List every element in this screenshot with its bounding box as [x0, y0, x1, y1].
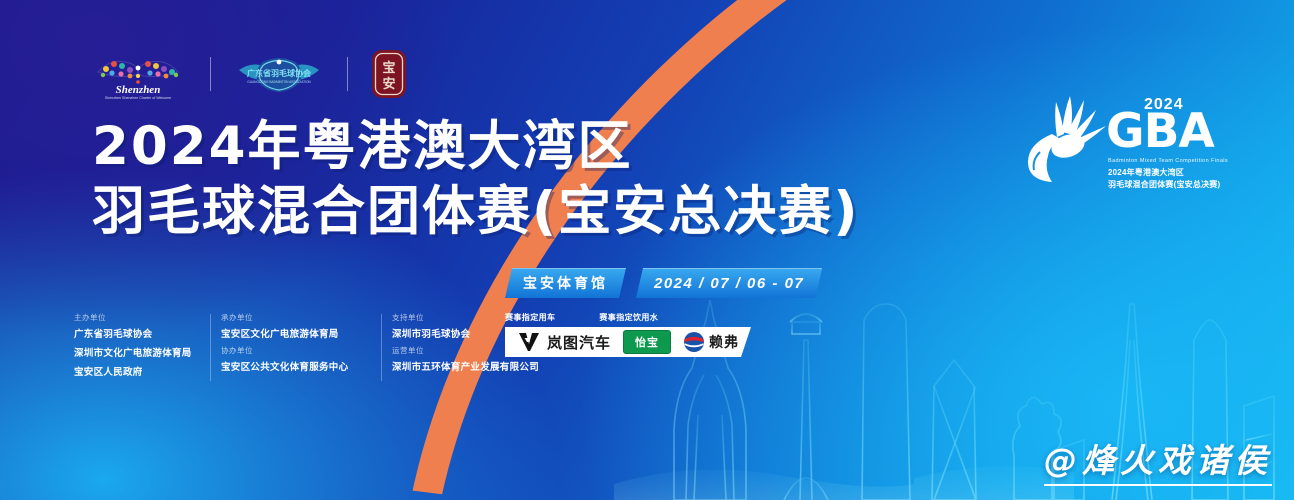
baoan-seal-logo: 宝 安 [370, 48, 408, 100]
org-role-label: 主办单位 [74, 312, 210, 323]
svg-text:安: 安 [382, 76, 395, 92]
org-name: 宝安区公共文化体育服务中心 [221, 359, 381, 373]
voyah-logo: 岚图汽车 [517, 331, 611, 353]
logo-divider-1 [210, 57, 211, 91]
laifu-mark-icon [683, 331, 705, 353]
sponsor-logo-bar: 岚图汽车 怡宝 赖弗 [505, 327, 751, 357]
date-pill: 2024 / 07 / 06 - 07 [636, 268, 822, 298]
shenzhen-logo-wordmark: Shenzhen [116, 84, 161, 96]
voyah-mark-icon [517, 331, 541, 353]
cestbon-logo: 怡宝 [623, 330, 671, 354]
sponsor-head-vehicle: 赛事指定用车 [505, 312, 555, 323]
title-line-1: 2024年粤港澳大湾区 [92, 120, 859, 173]
organizer-divider-2 [381, 314, 382, 381]
svg-text:GUANGDONG BADMINTON ASSOCIATIO: GUANGDONG BADMINTON ASSOCIATION [247, 80, 311, 84]
gba-event-badge: 2024 GBA Badminton Mixed Team Competitio… [1026, 92, 1241, 197]
organizer-column-1: 主办单位 广东省羽毛球协会 深圳市文化广电旅游体育局 宝安区人民政府 [74, 312, 210, 383]
shuttlecock-icon [1018, 90, 1114, 190]
org-name: 深圳市文化广电旅游体育局 [74, 345, 210, 359]
watermark: @烽火戏诸侯 [1044, 434, 1272, 486]
shenzhen-city-logo: Shenzhen Shenzhen Shenzhen Charter of We… [88, 44, 188, 104]
gdba-logo-cn: 广东省羽毛球协会 [247, 68, 311, 78]
svg-text:Shenzhen Shenzhen Charter of: Shenzhen Shenzhen Charter of Welcome [105, 96, 171, 100]
banner-title-block: 2024年粤港澳大湾区 羽毛球混合团体赛(宝安总决赛) [92, 120, 859, 238]
organizer-divider-1 [210, 314, 211, 381]
org-name: 宝安区文化广电旅游体育局 [221, 326, 381, 340]
guangdong-badminton-association-logo: 广东省羽毛球协会 GUANGDONG BADMINTON ASSOCIATION [233, 50, 325, 98]
logo-divider-2 [347, 57, 348, 91]
organizer-credits: 主办单位 广东省羽毛球协会 深圳市文化广电旅游体育局 宝安区人民政府 承办单位 … [74, 312, 552, 383]
laifu-wordmark: 赖弗 [709, 332, 739, 352]
svg-text:宝: 宝 [382, 60, 395, 76]
gba-cn-line-2: 羽毛球混合团体赛(宝安总决赛) [1108, 179, 1220, 190]
title-line-2: 羽毛球混合团体赛(宝安总决赛) [92, 185, 859, 238]
sponsor-head-water: 赛事指定饮用水 [599, 312, 658, 323]
organizer-column-2: 承办单位 宝安区文化广电旅游体育局 协办单位 宝安区公共文化体育服务中心 [221, 312, 381, 383]
gba-tagline: Badminton Mixed Team Competition Finals [1108, 158, 1228, 164]
voyah-wordmark: 岚图汽车 [547, 332, 611, 353]
gba-cn-line-1: 2024年粤港澳大湾区 [1108, 167, 1184, 178]
partner-logo-strip: Shenzhen Shenzhen Shenzhen Charter of We… [88, 44, 408, 104]
org-name: 广东省羽毛球协会 [74, 326, 210, 340]
venue-date-pills: 宝安体育馆 2024 / 07 / 06 - 07 [505, 268, 822, 298]
org-role-label: 协办单位 [221, 345, 381, 356]
gba-acronym: GBA [1106, 108, 1214, 155]
org-role-label: 承办单位 [221, 312, 381, 323]
laifu-logo: 赖弗 [683, 331, 739, 353]
venue-pill: 宝安体育馆 [505, 268, 626, 298]
sponsor-block: 赛事指定用车 赛事指定饮用水 岚图汽车 怡宝 赖弗 [505, 312, 751, 357]
org-name: 宝安区人民政府 [74, 364, 210, 378]
event-banner: Shenzhen Shenzhen Shenzhen Charter of We… [0, 0, 1294, 500]
org-name: 深圳市五环体育产业发展有限公司 [392, 359, 552, 373]
